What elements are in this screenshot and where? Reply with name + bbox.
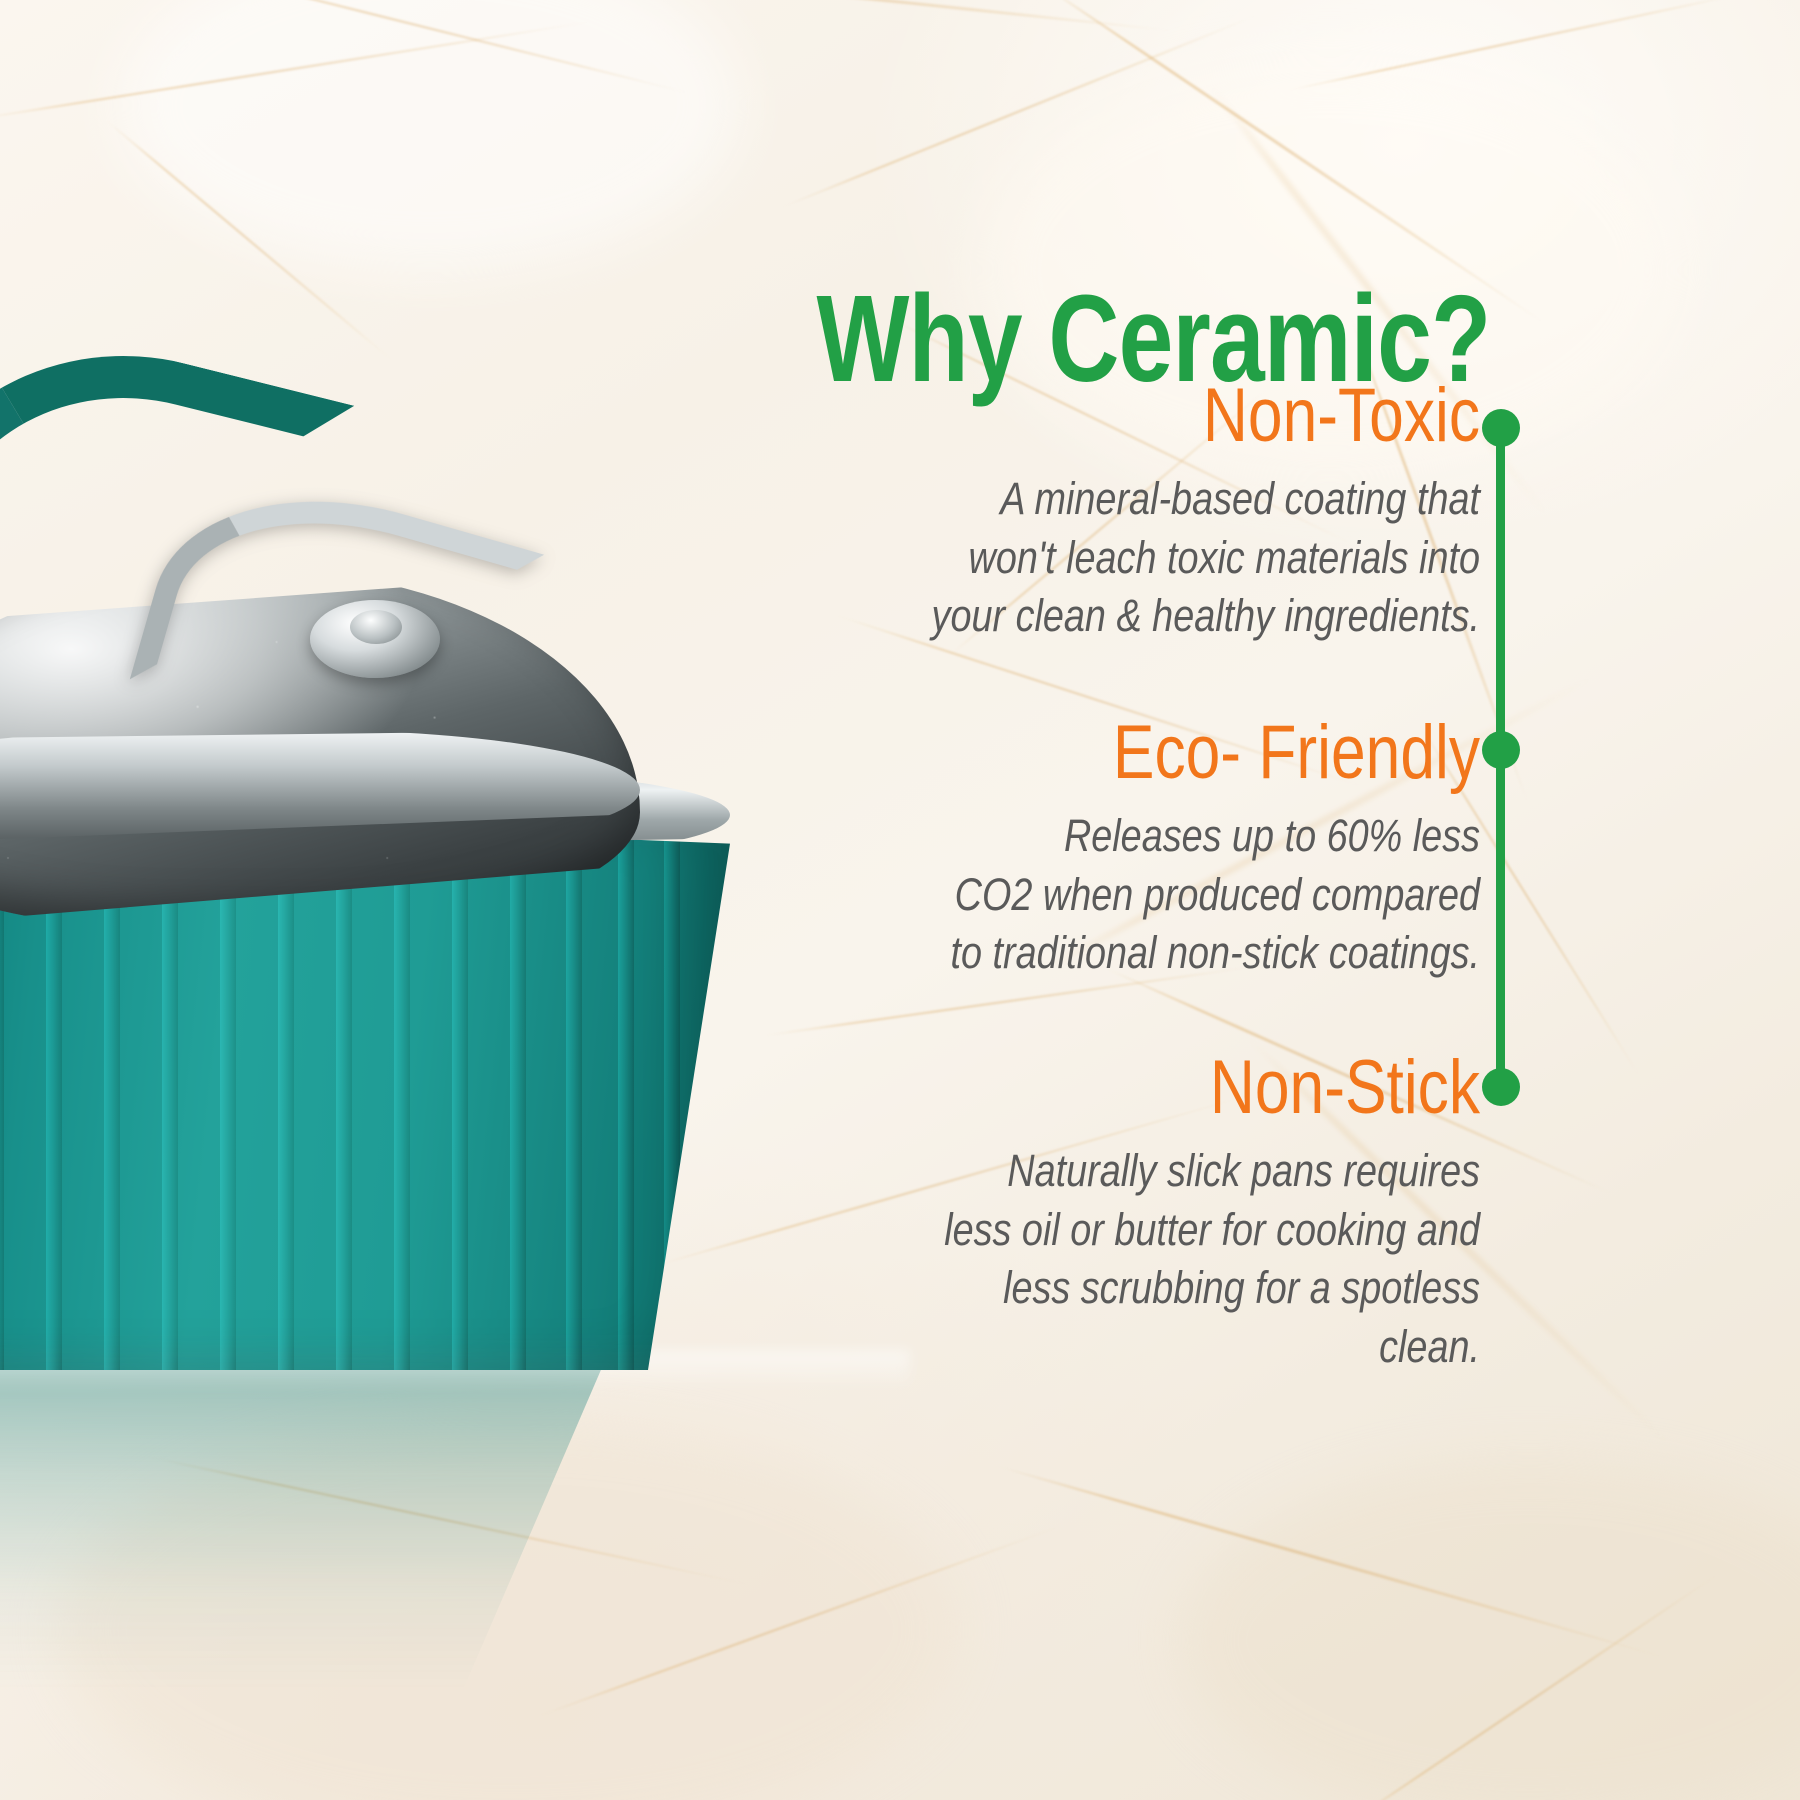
feature-body-eco-friendly: Releases up to 60% less CO2 when produce… bbox=[892, 807, 1480, 983]
timeline-dot-eco-friendly bbox=[1482, 731, 1520, 769]
feature-heading-non-stick: Non-Stick bbox=[906, 1050, 1480, 1126]
feature-eco-friendly: Eco- Friendly Releases up to 60% less CO… bbox=[780, 715, 1480, 983]
feature-line: A mineral-based coating that bbox=[1000, 473, 1480, 524]
feature-heading-non-toxic: Non-Toxic bbox=[906, 378, 1480, 454]
feature-line: less scrubbing for a spotless clean. bbox=[1003, 1262, 1480, 1372]
infographic-canvas: Why Ceramic? Non-Toxic A mineral-based c… bbox=[0, 0, 1800, 1800]
timeline-dot-non-toxic bbox=[1482, 409, 1520, 447]
feature-line: Releases up to 60% less bbox=[1064, 810, 1480, 861]
feature-non-toxic: Non-Toxic A mineral-based coating that w… bbox=[780, 378, 1480, 646]
feature-line: won't leach toxic materials into bbox=[969, 532, 1480, 583]
feature-line: CO2 when produced compared bbox=[955, 869, 1480, 920]
feature-body-non-toxic: A mineral-based coating that won't leach… bbox=[892, 470, 1480, 646]
feature-body-non-stick: Naturally slick pans requires less oil o… bbox=[892, 1142, 1480, 1376]
feature-line: to traditional non-stick coatings. bbox=[951, 927, 1480, 978]
feature-heading-eco-friendly: Eco- Friendly bbox=[906, 715, 1480, 791]
feature-line: your clean & healthy ingredients. bbox=[932, 590, 1480, 641]
lid-knob-bolt bbox=[350, 610, 402, 644]
feature-line: less oil or butter for cooking and bbox=[944, 1204, 1480, 1255]
feature-line: Naturally slick pans requires bbox=[1007, 1145, 1480, 1196]
feature-non-stick: Non-Stick Naturally slick pans requires … bbox=[780, 1050, 1480, 1376]
timeline-dot-non-stick bbox=[1482, 1068, 1520, 1106]
